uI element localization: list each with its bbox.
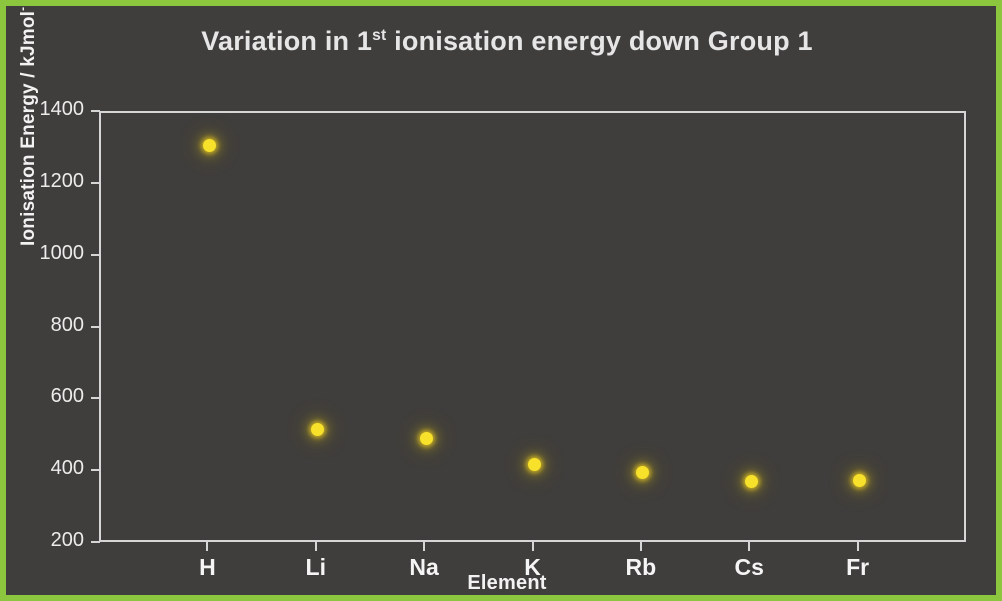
x-tick-mark	[206, 542, 208, 551]
x-tick-mark	[315, 542, 317, 551]
chart-title-suffix: ionisation energy down Group 1	[386, 26, 812, 56]
ionisation-energy-chart: Variation in 1st ionisation energy down …	[0, 0, 1002, 601]
chart-title-prefix: Variation in 1	[201, 26, 372, 56]
y-axis-title-superscript: -1	[17, 0, 30, 11]
y-tick-label: 800	[6, 314, 84, 337]
x-tick-mark	[423, 542, 425, 551]
y-tick-label: 1200	[6, 170, 84, 193]
y-tick-label: 200	[6, 529, 84, 552]
y-tick-label: 1000	[6, 242, 84, 265]
data-point-li	[311, 423, 324, 436]
y-axis-title: Ionisation Energy / kJmol-1	[18, 0, 40, 246]
data-point-na	[420, 432, 433, 445]
data-point-fr	[853, 474, 866, 487]
data-point-k	[528, 458, 541, 471]
y-tick-label: 1400	[6, 98, 84, 121]
y-tick-label: 400	[6, 457, 84, 480]
data-point-cs	[745, 475, 758, 488]
plot-inner	[101, 113, 964, 540]
chart-title: Variation in 1st ionisation energy down …	[6, 26, 1002, 57]
data-point-rb	[636, 466, 649, 479]
y-axis-title-main: Ionisation Energy / kJmol	[18, 11, 39, 246]
data-point-h	[203, 139, 216, 152]
x-tick-mark	[857, 542, 859, 551]
plot-area	[99, 111, 966, 542]
x-tick-mark	[748, 542, 750, 551]
x-tick-mark	[532, 542, 534, 551]
chart-title-superscript: st	[372, 27, 386, 44]
y-tick-label: 600	[6, 385, 84, 408]
x-tick-mark	[640, 542, 642, 551]
x-axis-title: Element	[6, 572, 1002, 595]
